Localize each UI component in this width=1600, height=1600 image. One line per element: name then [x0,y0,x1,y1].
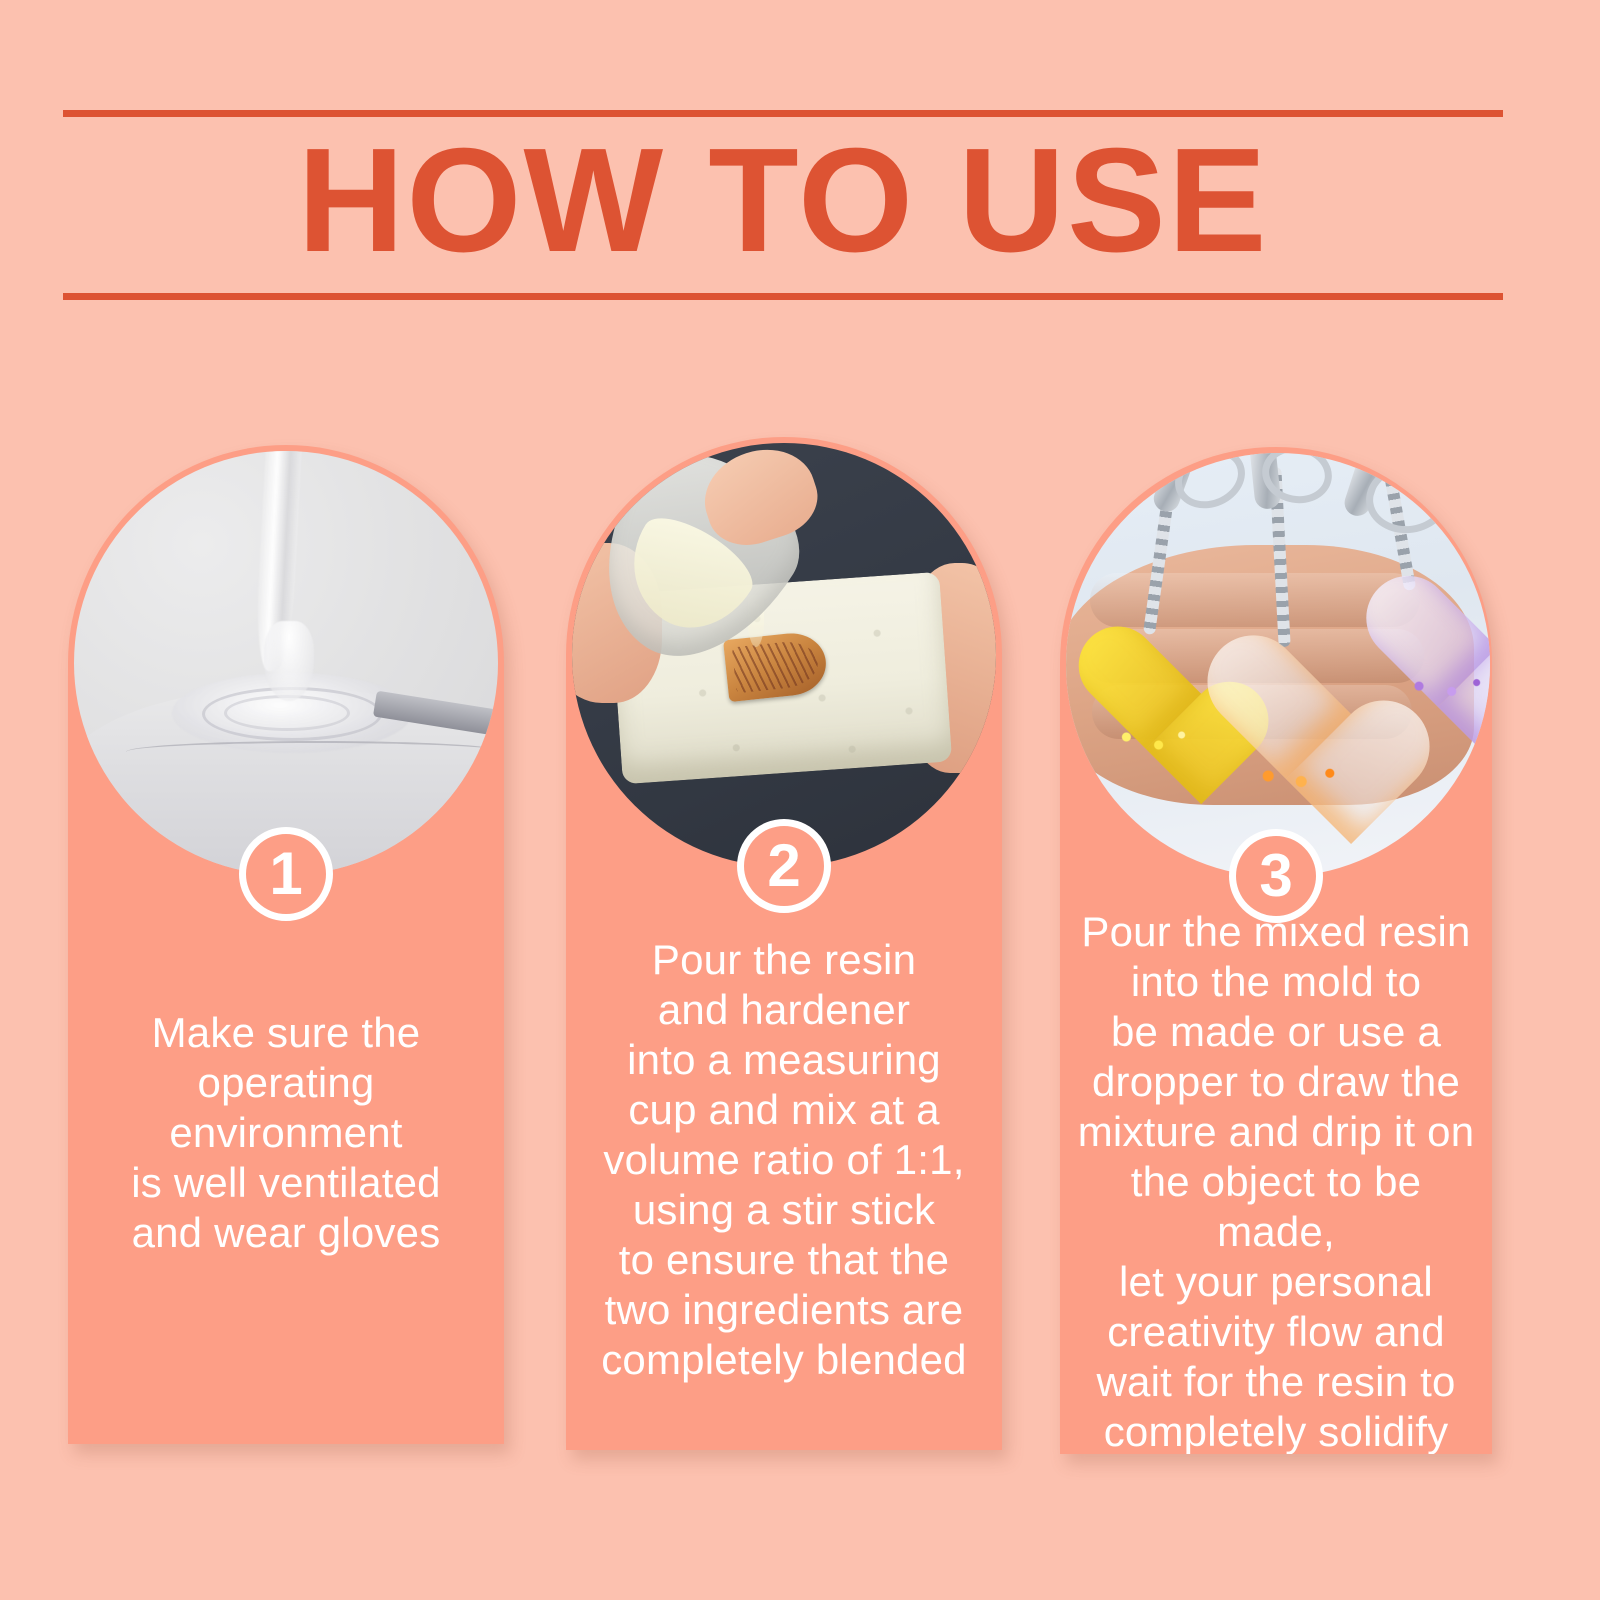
step-card-1: 1 Make sure the operating environment is… [68,445,504,1444]
step-2-photo [572,443,996,867]
heart-resin-keychains-photo [1066,453,1490,877]
step-number-badge-1: 1 [239,827,333,921]
step-card-2: 2 Pour the resin and hardener into a mea… [566,437,1002,1450]
clear-resin-pouring-photo [74,451,498,875]
step-number-badge-3: 3 [1229,829,1323,923]
step-description-1: Make sure the operating environment is w… [78,1008,494,1258]
pouring-resin-into-mold-on-foam-photo [572,443,996,867]
steps-container: 1 Make sure the operating environment is… [0,0,1600,1600]
step-number-badge-2: 2 [737,819,831,913]
step-1-photo [74,451,498,875]
step-description-3: Pour the mixed resin into the mold to be… [1070,907,1482,1454]
step-description-2: Pour the resin and hardener into a measu… [576,935,992,1385]
step-3-photo [1066,453,1490,877]
step-card-3: 3 Pour the mixed resin into the mold to … [1060,447,1492,1454]
